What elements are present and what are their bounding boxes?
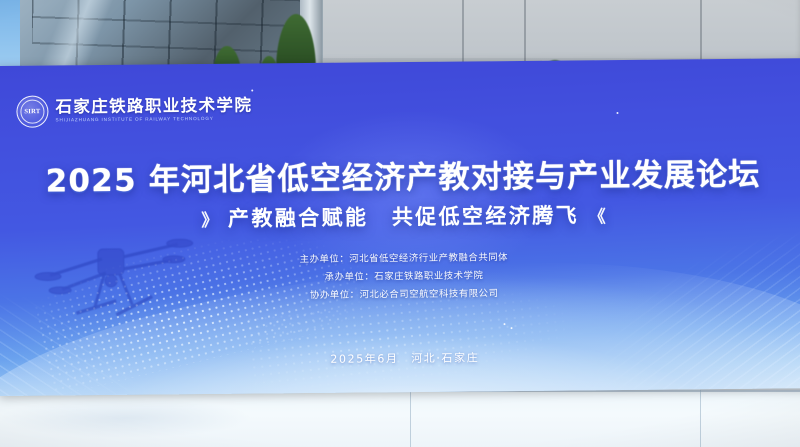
organizer-name: 河北省低空经济行业产教融合共同体 <box>349 252 508 265</box>
organizer-name: 石家庄铁路职业技术学院 <box>374 270 483 282</box>
emblem-text: SIRT <box>17 108 47 115</box>
banner-title: 2025 年河北省低空经济产教对接与产业发展论坛 <box>0 148 800 201</box>
organizer-list: 主办单位：河北省低空经济行业产教融合共同体 承办单位：石家庄铁路职业技术学院 协… <box>0 246 800 304</box>
organizer-row: 承办单位：石家庄铁路职业技术学院 <box>325 267 484 283</box>
white-wall <box>0 390 800 447</box>
school-logo: SIRT 石家庄铁路职业技术学院 SHIJIAZHUANG INSTITUTE … <box>16 94 252 128</box>
school-name-cn: 石家庄铁路职业技术学院 <box>55 97 252 115</box>
school-emblem-icon: SIRT <box>16 95 48 127</box>
school-name-en: SHIJIAZHUANG INSTITUTE OF RAILWAY TECHNO… <box>56 117 253 123</box>
organizer-role: 承办单位： <box>325 271 375 282</box>
organizer-role: 主办单位： <box>300 254 350 265</box>
organizer-name: 河北必合司空航空科技有限公司 <box>360 288 499 300</box>
organizer-role: 协办单位： <box>310 290 360 301</box>
event-banner: SIRT 石家庄铁路职业技术学院 SHIJIAZHUANG INSTITUTE … <box>0 58 800 396</box>
organizer-row: 主办单位：河北省低空经济行业产教融合共同体 <box>300 249 509 265</box>
banner-subtitle-text: 产教融合赋能 共促低空经济腾飞 <box>228 203 579 230</box>
screenshot-root: SIRT 石家庄铁路职业技术学院 SHIJIAZHUANG INSTITUTE … <box>0 0 800 447</box>
organizer-row: 协办单位：河北必合司空航空科技有限公司 <box>310 285 499 301</box>
chevron-left-icon: 》 <box>201 211 218 231</box>
chevron-right-icon: 《 <box>589 207 606 227</box>
